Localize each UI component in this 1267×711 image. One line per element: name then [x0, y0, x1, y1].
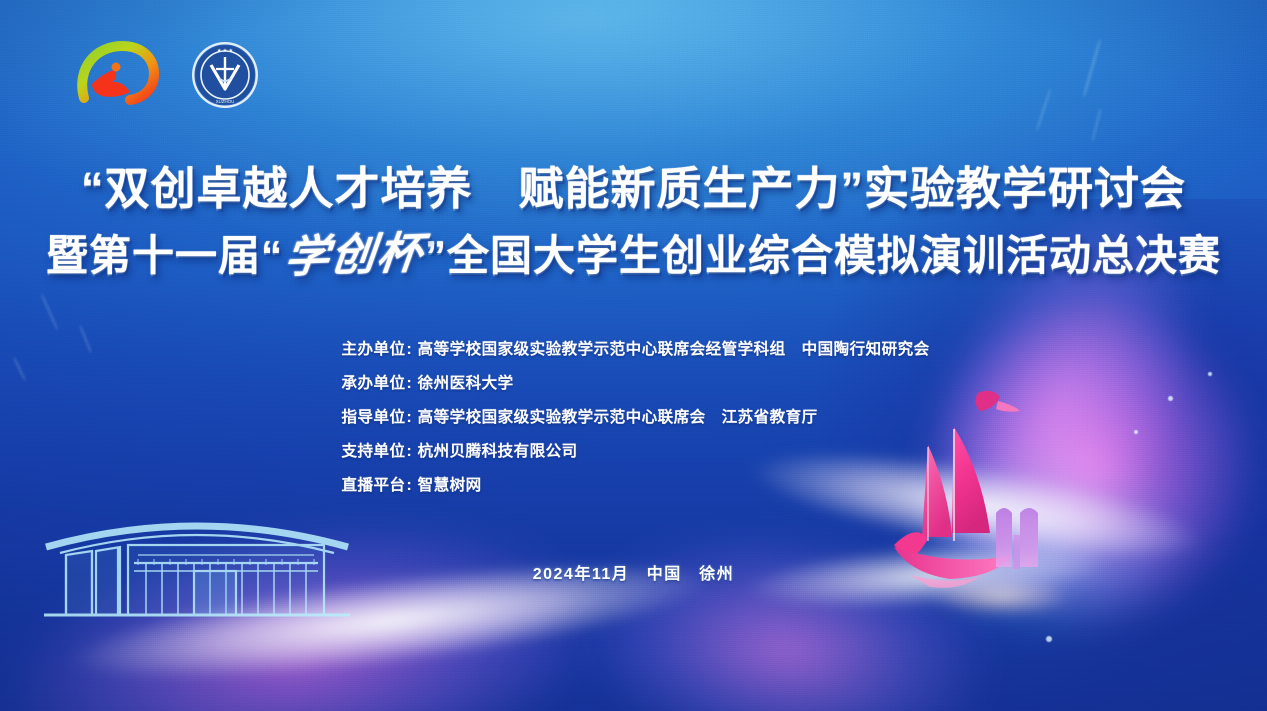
info-label: 承办单位 [314, 372, 406, 396]
info-colon: : [406, 440, 418, 464]
title-block: “双创卓越人才培养 赋能新质生产力”实验教学研讨会 暨第十一届“学创杯”全国大学… [0, 160, 1267, 284]
svg-text:XUZHOU: XUZHOU [216, 99, 235, 104]
competition-swoosh-logo [74, 40, 160, 110]
sailboat-illustration [880, 385, 1150, 620]
title-line-2: 暨第十一届“学创杯”全国大学生创业综合模拟演训活动总决赛 [0, 228, 1267, 284]
info-colon: : [406, 372, 418, 396]
info-value: 杭州贝腾科技有限公司 [418, 440, 954, 464]
info-value: 高等学校国家级实验教学示范中心联席会经管学科组 中国陶行知研究会 [418, 338, 954, 362]
logo-group: ★ ★ ★ XUZHOU [74, 40, 260, 110]
info-row: 支持单位 : 杭州贝腾科技有限公司 [314, 440, 954, 464]
info-label: 支持单位 [314, 440, 406, 464]
svg-text:★ ★ ★: ★ ★ ★ [217, 48, 234, 54]
info-value: 徐州医科大学 [418, 372, 954, 396]
quote-open: “ [261, 232, 283, 279]
university-emblem-logo: ★ ★ ★ XUZHOU [190, 40, 260, 110]
info-label: 直播平台 [314, 474, 406, 498]
info-colon: : [406, 406, 418, 430]
info-row: 承办单位 : 徐州医科大学 [314, 372, 954, 396]
info-label: 指导单位 [314, 406, 406, 430]
conference-banner: ★ ★ ★ XUZHOU “双创卓越人才培养 赋能新质生产力”实验教学研讨会 暨… [0, 0, 1267, 711]
brand-name: 学创杯 [280, 226, 429, 287]
info-value: 高等学校国家级实验教学示范中心联席会 江苏省教育厅 [418, 406, 954, 430]
info-value: 智慧树网 [418, 474, 954, 498]
quote-close: ” [425, 232, 447, 279]
info-row: 直播平台 : 智慧树网 [314, 474, 954, 498]
info-colon: : [406, 474, 418, 498]
title-line2-prefix: 暨第十一届 [46, 232, 261, 279]
info-row: 指导单位 : 高等学校国家级实验教学示范中心联席会 江苏省教育厅 [314, 406, 954, 430]
title-line-1: “双创卓越人才培养 赋能新质生产力”实验教学研讨会 [0, 160, 1267, 218]
info-label: 主办单位 [314, 338, 406, 362]
info-colon: : [406, 338, 418, 362]
title-line2-suffix: 全国大学生创业综合模拟演训活动总决赛 [447, 232, 1221, 279]
conference-hall-illustration [42, 503, 352, 633]
info-row: 主办单位 : 高等学校国家级实验教学示范中心联席会经管学科组 中国陶行知研究会 [314, 338, 954, 362]
